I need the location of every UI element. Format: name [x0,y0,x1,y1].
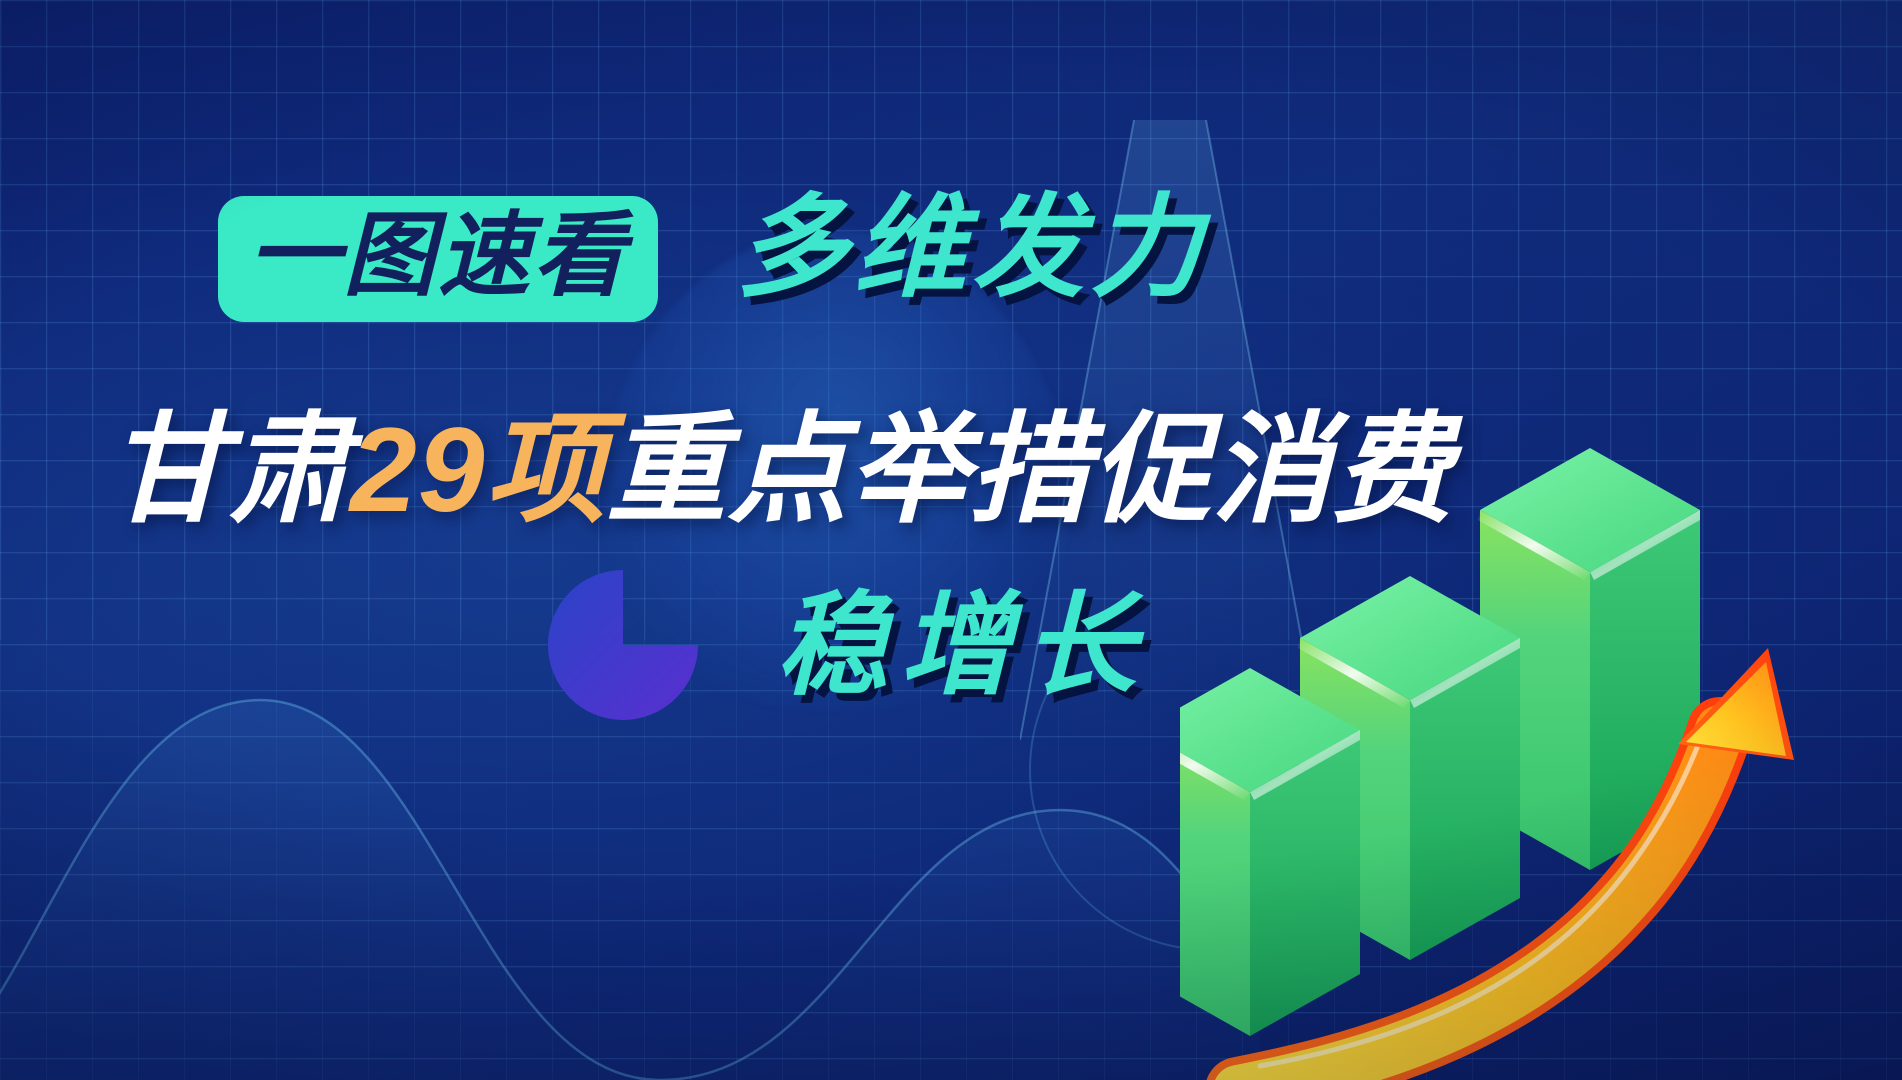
growth-bar-chart-illustration [1180,400,1902,1080]
pie-chart-icon [548,570,698,720]
bar-1 [1180,668,1360,1036]
eyebrow-badge[interactable]: 一图速看 [218,196,658,322]
headline-eyebrow: 多维发力 [736,192,1208,304]
eyebrow-badge-label: 一图速看 [248,210,628,302]
headline-main-prefix: 甘肃 [108,403,350,537]
pie-slice-major [548,570,698,720]
headline-tail: 稳增长 [776,590,1148,702]
headline-main-number: 29项 [350,403,606,537]
poster-canvas: 一图速看 多维发力 甘肃29项重点举措促消费 稳增长 [0,0,1902,1080]
